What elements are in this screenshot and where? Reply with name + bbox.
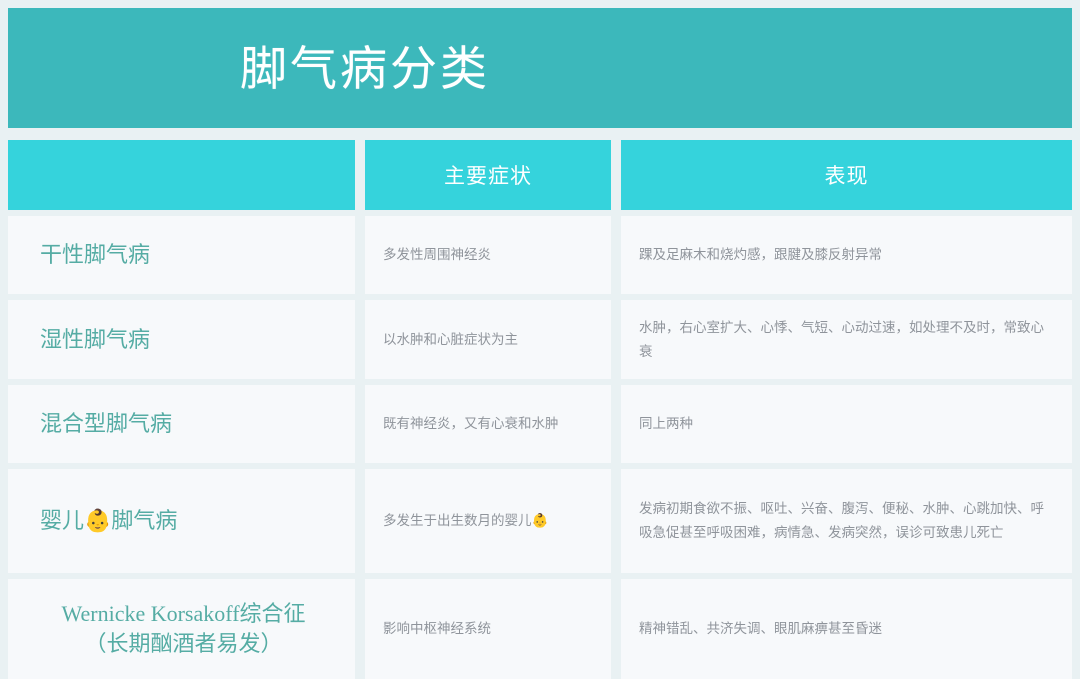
category-label-line2: （长期酗酒者易发） (84, 631, 282, 656)
classification-table: 主要症状 表现 干性脚气病 多发性周围神经炎 踝及足麻木和烧灼感，跟腱及膝反射异… (8, 140, 1072, 679)
table-cell-manifestation: 发病初期食欲不振、呕吐、兴奋、腹泻、便秘、水肿、心跳加快、呼吸急促甚至呼吸困难，… (621, 469, 1072, 573)
table-row: 婴儿👶脚气病 多发生于出生数月的婴儿👶 发病初期食欲不振、呕吐、兴奋、腹泻、便秘… (8, 469, 1072, 573)
table-cell-manifestation: 踝及足麻木和烧灼感，跟腱及膝反射异常 (621, 216, 1072, 294)
manifestation-text: 踝及足麻木和烧灼感，跟腱及膝反射异常 (639, 243, 882, 267)
banner-header: 脚气病分类 (8, 8, 1072, 128)
table-cell-symptom: 既有神经炎，又有心衰和水肿 (365, 385, 611, 463)
symptom-text: 多发生于出生数月的婴儿👶 (383, 509, 548, 533)
manifestation-text: 同上两种 (639, 412, 693, 436)
table-row: Wernicke Korsakoff综合征 （长期酗酒者易发） 影响中枢神经系统… (8, 579, 1072, 679)
category-label-line1: Wernicke Korsakoff综合征 (61, 601, 305, 626)
symptom-text: 既有神经炎，又有心衰和水肿 (383, 412, 559, 436)
column-header-label-manifestation: 表现 (825, 160, 869, 190)
manifestation-text: 水肿，右心室扩大、心悸、气短、心动过速，如处理不及时，常致心衰 (639, 316, 1048, 363)
table-cell-category: Wernicke Korsakoff综合征 （长期酗酒者易发） (8, 579, 355, 679)
category-label: 湿性脚气病 (40, 325, 150, 355)
table-row: 干性脚气病 多发性周围神经炎 踝及足麻木和烧灼感，跟腱及膝反射异常 (8, 216, 1072, 294)
manifestation-text: 发病初期食欲不振、呕吐、兴奋、腹泻、便秘、水肿、心跳加快、呼吸急促甚至呼吸困难，… (639, 497, 1048, 544)
category-label: 干性脚气病 (40, 240, 150, 270)
table-row: 湿性脚气病 以水肿和心脏症状为主 水肿，右心室扩大、心悸、气短、心动过速，如处理… (8, 300, 1072, 379)
banner-spacer (8, 128, 1072, 140)
table-header-cell-category (8, 140, 355, 210)
table-cell-category: 婴儿👶脚气病 (8, 469, 355, 573)
page-title: 脚气病分类 (240, 45, 490, 92)
table-row: 混合型脚气病 既有神经炎，又有心衰和水肿 同上两种 (8, 385, 1072, 463)
table-header-row: 主要症状 表现 (8, 140, 1072, 210)
table-cell-symptom: 多发生于出生数月的婴儿👶 (365, 469, 611, 573)
table-cell-category: 干性脚气病 (8, 216, 355, 294)
table-cell-category: 湿性脚气病 (8, 300, 355, 379)
table-cell-symptom: 影响中枢神经系统 (365, 579, 611, 679)
table-cell-symptom: 以水肿和心脏症状为主 (365, 300, 611, 379)
category-label: 婴儿👶脚气病 (40, 506, 177, 536)
column-header-label-symptom: 主要症状 (444, 160, 532, 190)
table-header-cell-symptom: 主要症状 (365, 140, 611, 210)
category-label: 混合型脚气病 (40, 409, 172, 439)
symptom-text: 影响中枢神经系统 (383, 617, 491, 641)
symptom-text: 多发性周围神经炎 (383, 243, 491, 267)
table-header-cell-manifestation: 表现 (621, 140, 1072, 210)
infographic-page: 脚气病分类 主要症状 表现 干性脚气病 多发性周围神经炎 踝及足麻 (0, 0, 1080, 676)
category-label: Wernicke Korsakoff综合征 （长期酗酒者易发） (40, 599, 355, 658)
manifestation-text: 精神错乱、共济失调、眼肌麻痹甚至昏迷 (639, 617, 882, 641)
table-cell-manifestation: 同上两种 (621, 385, 1072, 463)
table-cell-category: 混合型脚气病 (8, 385, 355, 463)
table-cell-manifestation: 精神错乱、共济失调、眼肌麻痹甚至昏迷 (621, 579, 1072, 679)
symptom-text: 以水肿和心脏症状为主 (383, 328, 518, 352)
table-cell-manifestation: 水肿，右心室扩大、心悸、气短、心动过速，如处理不及时，常致心衰 (621, 300, 1072, 379)
table-cell-symptom: 多发性周围神经炎 (365, 216, 611, 294)
